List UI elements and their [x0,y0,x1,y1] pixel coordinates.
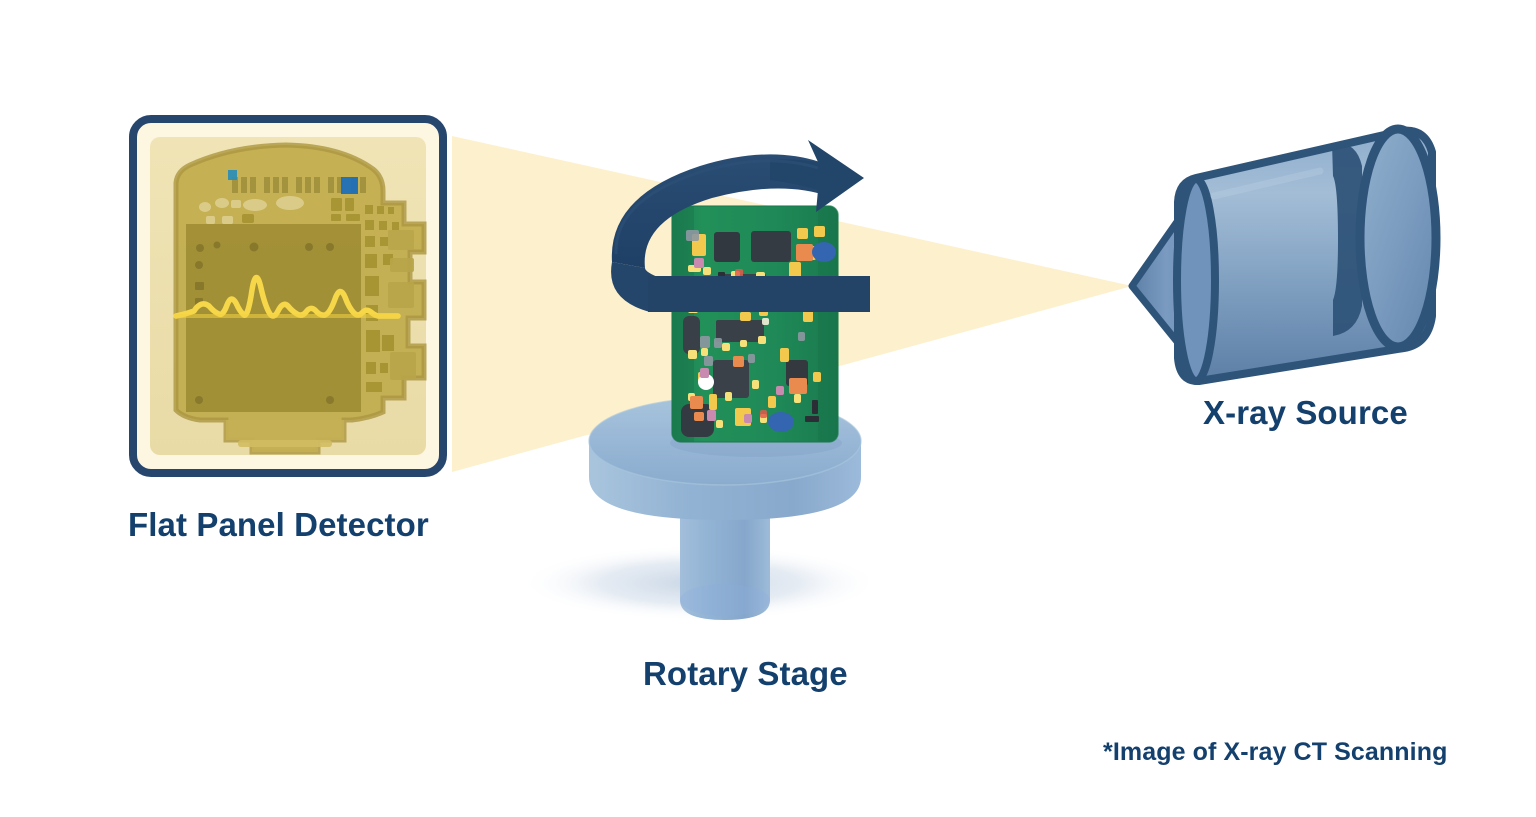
footnote-caption: *Image of X-ray CT Scanning [1103,738,1447,767]
label-rotary-stage: Rotary Stage [643,655,848,693]
sample-pcb[interactable] [670,206,842,457]
source-end-cap [1360,129,1436,347]
xray-accent-square-right [341,177,358,194]
xray-accent-square-left [228,170,237,180]
flat-panel-detector[interactable] [133,119,443,473]
source-front-rim [1177,179,1215,381]
diagram-canvas: Flat Panel Detector Rotary Stage X-ray S… [0,0,1536,817]
label-flat-panel-detector: Flat Panel Detector [128,506,429,544]
label-xray-source: X-ray Source [1203,394,1408,432]
xray-source[interactable] [1132,129,1436,381]
